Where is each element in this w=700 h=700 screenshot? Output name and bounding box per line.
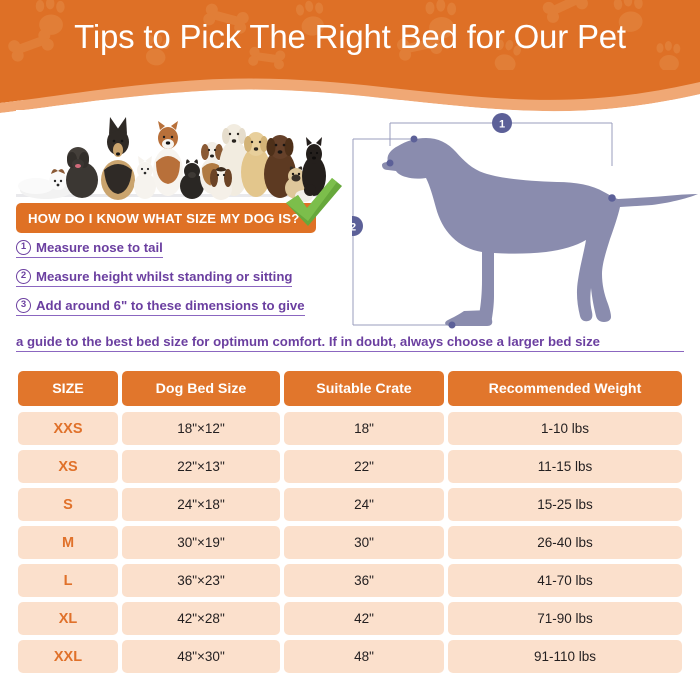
table-row: XS 22"×13" 22" 11-15 lbs <box>18 450 682 483</box>
cell-crate: 36" <box>284 564 444 597</box>
step-number-icon-2: 2 <box>16 269 31 284</box>
dog-silhouette <box>382 138 698 323</box>
cell-crate: 42" <box>284 602 444 635</box>
table-row: XL 42"×28" 42" 71-90 lbs <box>18 602 682 635</box>
table-row: XXL 48"×30" 48" 91-110 lbs <box>18 640 682 673</box>
cell-size: XS <box>18 450 118 483</box>
cell-crate: 30" <box>284 526 444 559</box>
marker-2-height: 2 <box>352 216 363 236</box>
table-row: M 30"×19" 30" 26-40 lbs <box>18 526 682 559</box>
dog-measurement-diagram: 1 2 <box>352 106 700 336</box>
step-text-3: Add around 6" to these dimensions to giv… <box>36 298 305 313</box>
cell-bed-size: 30"×19" <box>122 526 280 559</box>
green-check-icon <box>282 176 344 228</box>
table-header-crate: Suitable Crate <box>284 371 444 406</box>
cell-size: L <box>18 564 118 597</box>
cell-bed-size: 22"×13" <box>122 450 280 483</box>
step-number-icon-1: 1 <box>16 240 31 255</box>
step-text-2: Measure height whilst standing or sittin… <box>36 269 292 284</box>
cta-label: HOW DO I KNOW WHAT SIZE MY DOG IS? <box>28 211 300 226</box>
cell-size: S <box>18 488 118 521</box>
cell-bed-size: 18"×12" <box>122 412 280 445</box>
cell-weight: 26-40 lbs <box>448 526 682 559</box>
cell-bed-size: 36"×23" <box>122 564 280 597</box>
cell-size: M <box>18 526 118 559</box>
table-row: XXS 18"×12" 18" 1-10 lbs <box>18 412 682 445</box>
marker-1-length: 1 <box>492 113 512 133</box>
page-title: Tips to Pick The Right Bed for Our Pet <box>0 18 700 56</box>
cell-weight: 15-25 lbs <box>448 488 682 521</box>
table-header-weight: Recommended Weight <box>448 371 682 406</box>
table-header-size: SIZE <box>18 371 118 406</box>
dogs-group-photo <box>16 110 326 202</box>
measurement-steps-list: 1 Measure nose to tail 2 Measure height … <box>16 240 376 327</box>
cell-crate: 18" <box>284 412 444 445</box>
cell-weight: 1-10 lbs <box>448 412 682 445</box>
cell-bed-size: 48"×30" <box>122 640 280 673</box>
step-continuation-text: a guide to the best bed size for optimum… <box>16 334 600 349</box>
cell-crate: 48" <box>284 640 444 673</box>
step-text-1: Measure nose to tail <box>36 240 163 255</box>
cell-bed-size: 24"×18" <box>122 488 280 521</box>
table-row: S 24"×18" 24" 15-25 lbs <box>18 488 682 521</box>
cell-crate: 22" <box>284 450 444 483</box>
cell-weight: 11-15 lbs <box>448 450 682 483</box>
step-item-2: 2 Measure height whilst standing or sitt… <box>16 269 376 298</box>
cell-crate: 24" <box>284 488 444 521</box>
table-header-row: SIZE Dog Bed Size Suitable Crate Recomme… <box>18 371 682 406</box>
cell-size: XL <box>18 602 118 635</box>
how-do-i-know-banner[interactable]: HOW DO I KNOW WHAT SIZE MY DOG IS? <box>16 203 316 233</box>
marker-2-label: 2 <box>352 222 356 234</box>
cell-bed-size: 42"×28" <box>122 602 280 635</box>
step-item-3: 3 Add around 6" to these dimensions to g… <box>16 298 376 327</box>
marker-1-label: 1 <box>499 119 505 131</box>
cell-size: XXS <box>18 412 118 445</box>
cell-size: XXL <box>18 640 118 673</box>
step-number-icon-3: 3 <box>16 298 31 313</box>
cell-weight: 71-90 lbs <box>448 602 682 635</box>
cell-weight: 41-70 lbs <box>448 564 682 597</box>
table-row: L 36"×23" 36" 41-70 lbs <box>18 564 682 597</box>
cell-weight: 91-110 lbs <box>448 640 682 673</box>
dog-bed-size-table: SIZE Dog Bed Size Suitable Crate Recomme… <box>18 371 682 678</box>
step-item-1: 1 Measure nose to tail <box>16 240 376 269</box>
table-header-bed-size: Dog Bed Size <box>122 371 280 406</box>
